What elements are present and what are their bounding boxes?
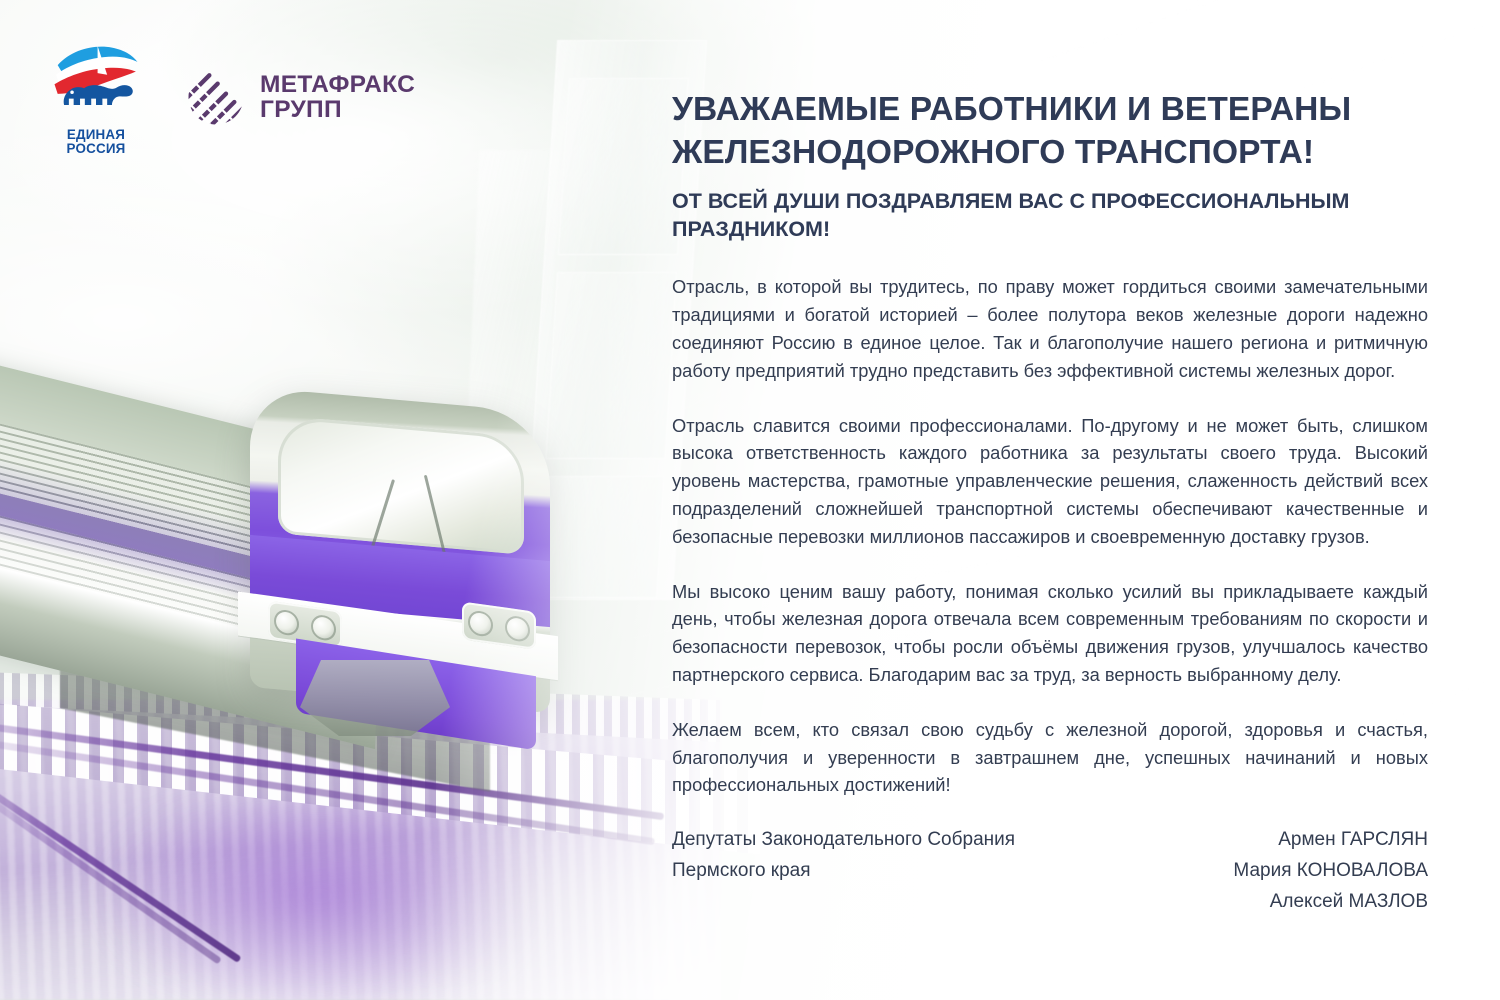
signatory-name: Армен ГАРСЛЯН: [1233, 825, 1428, 856]
signatory-role-line-2: Пермского края: [672, 856, 1015, 887]
message-paragraph: Отрасль славится своими профессионалами.…: [672, 412, 1428, 551]
message-paragraph: Мы высоко ценим вашу работу, понимая ско…: [672, 578, 1428, 689]
greeting-poster: ЕДИНАЯ РОССИЯ: [0, 0, 1500, 1000]
signatory-role: Депутаты Законодательного Собрания Пермс…: [672, 825, 1015, 887]
united-russia-wordmark: ЕДИНАЯ РОССИЯ: [48, 128, 144, 156]
metafrax-word-line-2: ГРУПП: [260, 97, 415, 122]
signatory-name: Алексей МАЗЛОВ: [1233, 887, 1428, 918]
metafrax-word-line-1: МЕТАФРАКС: [260, 72, 415, 97]
message-paragraph: Отрасль, в которой вы трудитесь, по прав…: [672, 273, 1428, 384]
signature-block: Депутаты Законодательного Собрания Пермс…: [672, 825, 1428, 917]
metafrax-wordmark: МЕТАФРАКС ГРУПП: [260, 72, 415, 122]
united-russia-word-line-2: РОССИЯ: [67, 141, 126, 156]
message-column: УВАЖАЕМЫЕ РАБОТНИКИ И ВЕТЕРАНЫ ЖЕЛЕЗНОДО…: [672, 88, 1428, 799]
signatory-role-line-1: Депутаты Законодательного Собрания: [672, 825, 1015, 856]
message-paragraph: Желаем всем, кто связал свою судьбу с же…: [672, 716, 1428, 799]
metafrax-dashed-circle-icon: [186, 67, 246, 127]
logo-row: ЕДИНАЯ РОССИЯ: [48, 38, 415, 156]
signatory-name: Мария КОНОВАЛОВА: [1233, 856, 1428, 887]
united-russia-emblem-icon: [48, 38, 144, 121]
page-subtitle: ОТ ВСЕЙ ДУШИ ПОЗДРАВЛЯЕМ ВАС С ПРОФЕССИО…: [672, 188, 1428, 243]
metafrax-group-logo: МЕТАФРАКС ГРУПП: [186, 67, 415, 127]
message-body: Отрасль, в которой вы трудитесь, по прав…: [672, 273, 1428, 799]
united-russia-logo: ЕДИНАЯ РОССИЯ: [48, 38, 144, 156]
page-title: УВАЖАЕМЫЕ РАБОТНИКИ И ВЕТЕРАНЫ ЖЕЛЕЗНОДО…: [672, 88, 1428, 174]
signatory-names: Армен ГАРСЛЯН Мария КОНОВАЛОВА Алексей М…: [1233, 825, 1428, 917]
united-russia-word-line-1: ЕДИНАЯ: [67, 127, 125, 142]
